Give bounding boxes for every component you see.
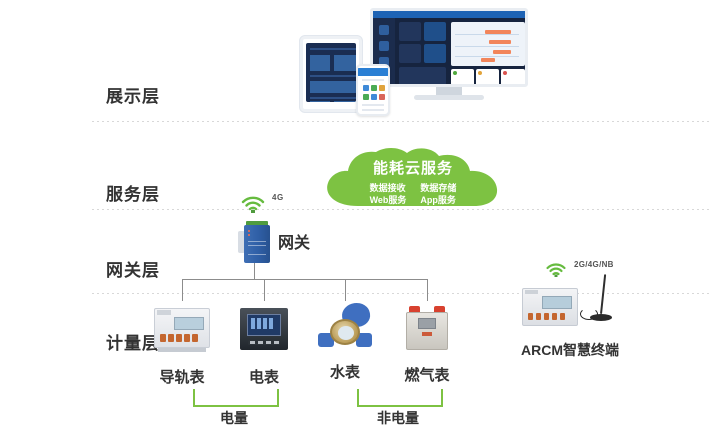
connector-drop-gas bbox=[427, 279, 428, 301]
monitor-screen bbox=[370, 8, 528, 87]
gateway-network-label: 4G bbox=[272, 193, 284, 202]
monitor-stat-card bbox=[424, 22, 446, 41]
meter-water[interactable]: 水表 bbox=[302, 300, 388, 382]
cloud-feature-data-storage: 数据存储 bbox=[420, 182, 456, 194]
arcm-network-label: 2G/4G/NB bbox=[574, 260, 614, 269]
connector-drop-water bbox=[345, 279, 346, 301]
monitor-stand-base bbox=[414, 95, 484, 100]
bracket-non-electric-group bbox=[357, 389, 443, 407]
meter-electric[interactable]: 电表 bbox=[221, 302, 307, 387]
cloud-title: 能耗云服务 bbox=[318, 157, 508, 178]
phone-screen bbox=[356, 64, 390, 116]
gateway-label: 网关 bbox=[278, 229, 310, 253]
arcm-terminal-node[interactable]: 2G/4G/NB ARCM智慧终端 bbox=[500, 262, 640, 372]
monitor-map-panel bbox=[451, 22, 525, 66]
phone-appbar bbox=[358, 68, 388, 76]
tablet-icon bbox=[300, 36, 362, 112]
water-meter-icon bbox=[302, 303, 388, 355]
connector-drop-rail bbox=[182, 279, 183, 301]
monitor-stat-card bbox=[399, 22, 421, 41]
monitor-stat-card bbox=[399, 44, 421, 63]
meter-electric-label: 电表 bbox=[221, 366, 307, 387]
electric-meter-icon bbox=[221, 308, 307, 360]
tablet-screen bbox=[300, 36, 362, 112]
layer-label-service: 服务层 bbox=[106, 180, 196, 205]
cloud-feature-data-receive: 数据接收 bbox=[370, 182, 407, 194]
monitor-sidebar-icon bbox=[379, 25, 389, 35]
connector-bus bbox=[182, 279, 427, 280]
monitor-sidebar-icon bbox=[379, 41, 389, 51]
desktop-monitor-icon bbox=[370, 8, 528, 100]
tablet-dashboard bbox=[306, 43, 356, 102]
arcm-terminal-label: ARCM智慧终端 bbox=[500, 340, 640, 360]
meter-rail-label: 导轨表 bbox=[139, 366, 225, 387]
layer-label-display: 展示层 bbox=[106, 82, 196, 107]
meter-gas[interactable]: 燃气表 bbox=[384, 302, 470, 385]
monitor-stat-card bbox=[399, 67, 446, 86]
wifi-signal-icon bbox=[240, 195, 266, 213]
antenna-icon bbox=[580, 274, 614, 330]
rail-meter-icon bbox=[139, 308, 225, 360]
cloud-feature-web-service: Web服务 bbox=[370, 194, 407, 206]
separator-display-service bbox=[92, 121, 712, 122]
bracket-electric-group bbox=[193, 389, 279, 407]
gateway-node[interactable]: 4G 网关 bbox=[236, 193, 356, 263]
group-label-electric: 电量 bbox=[193, 408, 275, 428]
group-label-non-electric: 非电量 bbox=[357, 408, 439, 428]
wifi-signal-icon bbox=[545, 262, 567, 277]
cloud-feature-app-service: App服务 bbox=[420, 194, 456, 206]
connector-drop-electric bbox=[264, 279, 265, 301]
display-layer-devices bbox=[300, 8, 550, 116]
gateway-device-icon bbox=[238, 221, 274, 263]
layer-label-gateway: 网关层 bbox=[106, 256, 196, 281]
meter-gas-label: 燃气表 bbox=[384, 364, 470, 385]
monitor-titlebar bbox=[373, 11, 525, 18]
connector-gateway-trunk bbox=[254, 263, 255, 279]
architecture-diagram: 展示层 服务层 网关层 计量层 bbox=[0, 0, 715, 443]
meter-rail[interactable]: 导轨表 bbox=[139, 302, 225, 387]
gas-meter-icon bbox=[384, 306, 470, 358]
arcm-device-icon bbox=[522, 288, 578, 330]
smartphone-icon bbox=[356, 64, 390, 116]
monitor-stat-card bbox=[424, 44, 446, 63]
meter-water-label: 水表 bbox=[302, 361, 388, 382]
